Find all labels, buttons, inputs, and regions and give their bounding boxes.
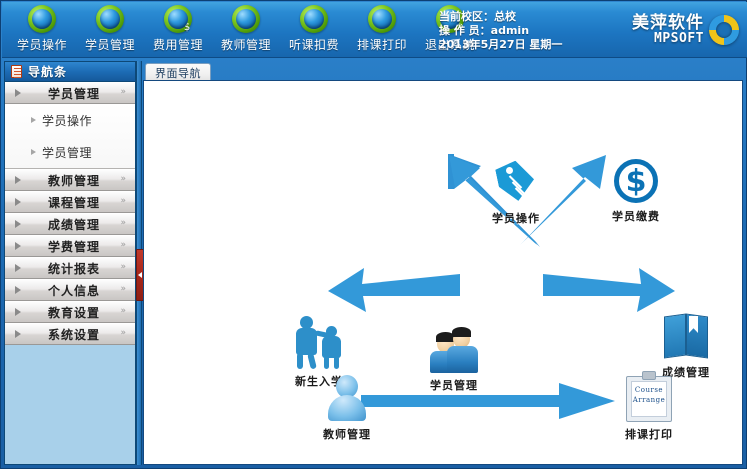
- diagram-node-course-print[interactable]: Course Arrange 排课打印: [599, 371, 699, 442]
- sidebar-subitem-label: 学员操作: [42, 112, 92, 129]
- toolbar-button-1[interactable]: 学员操作: [8, 2, 76, 56]
- toolbar-button-label: 学员管理: [85, 36, 135, 53]
- sidebar-group-5[interactable]: 学费管理»: [5, 235, 135, 257]
- chevron-down-icon[interactable]: »: [120, 175, 126, 184]
- toolbar-button-label: 教师管理: [221, 36, 271, 53]
- magnifier-icon: [28, 5, 56, 33]
- sidebar-group-1[interactable]: 学员管理»: [5, 82, 135, 104]
- tab-strip: 界面导航: [143, 61, 743, 81]
- sidebar-group-label: 课程管理: [21, 194, 135, 211]
- toolbar-button-4[interactable]: 教师管理: [212, 2, 280, 56]
- tab-label: 界面导航: [155, 65, 201, 81]
- chevron-down-icon[interactable]: »: [120, 219, 126, 228]
- dollar-circle-icon: $: [613, 159, 659, 205]
- navigation-sidebar: 导航条 学员管理»学员操作学员管理教师管理»课程管理»成绩管理»学费管理»统计报…: [4, 61, 136, 465]
- dollar-icon-glyph: $: [180, 21, 194, 35]
- chevron-down-icon[interactable]: »: [120, 197, 126, 206]
- diagram-label-teacher-mgmt: 教师管理: [292, 426, 402, 442]
- printer-icon: [368, 5, 396, 33]
- operator-text: 操 作 员：admin: [439, 24, 562, 38]
- teacher-icon: [232, 5, 260, 33]
- toolbar-button-label: 听课扣费: [289, 36, 339, 53]
- sidebar-group-8[interactable]: 教育设置»: [5, 301, 135, 323]
- sidebar-group-label: 统计报表: [21, 260, 135, 277]
- chevron-down-icon[interactable]: »: [120, 329, 126, 338]
- diagram-node-student-pay[interactable]: $ 学员缴费: [586, 159, 686, 224]
- brand-name-en: MPSOFT: [632, 32, 704, 46]
- diagram-label-course-print: 排课打印: [599, 426, 699, 442]
- chevron-down-icon[interactable]: »: [120, 263, 126, 272]
- sidebar-subitems-panel: 学员操作学员管理: [5, 104, 135, 169]
- sidebar-group-label: 系统设置: [21, 326, 135, 343]
- sidebar-subitem-label: 学员管理: [42, 144, 92, 161]
- toolbar-button-2[interactable]: 学员管理: [76, 2, 144, 56]
- refresh-arrow-icon: [300, 5, 328, 33]
- diagram-label-student-pay: 学员缴费: [586, 208, 686, 224]
- brand-name-cn: 美萍软件: [632, 14, 704, 32]
- toolbar-button-label: 学员操作: [17, 36, 67, 53]
- people-icon: [288, 316, 350, 370]
- students-icon: [426, 326, 482, 374]
- application-window: 学员操作学员管理$费用管理教师管理听课扣费排课打印⏻退出系统 当前校区：总校 操…: [0, 0, 747, 469]
- diagram-node-teacher-mgmt[interactable]: 教师管理: [292, 373, 402, 442]
- clipboard-line-1: Course: [631, 385, 667, 395]
- book-icon: [662, 311, 710, 361]
- diagram-label-student-ops: 学员操作: [466, 210, 566, 226]
- toolbar-button-5[interactable]: 听课扣费: [280, 2, 348, 56]
- sidebar-group-9[interactable]: 系统设置»: [5, 323, 135, 345]
- sidebar-group-label: 教师管理: [21, 172, 135, 189]
- sidebar-group-label: 个人信息: [21, 282, 135, 299]
- sidebar-group-3[interactable]: 课程管理»: [5, 191, 135, 213]
- person-icon: [325, 373, 369, 423]
- header-info: 当前校区：总校 操 作 员：admin 2013年5月27日 星期一: [439, 10, 562, 52]
- content-area: 界面导航: [143, 61, 743, 465]
- collapse-left-arrow-icon: [138, 272, 142, 278]
- tab-interface-navigation[interactable]: 界面导航: [145, 63, 211, 81]
- sidebar-group-4[interactable]: 成绩管理»: [5, 213, 135, 235]
- tag-icon: [494, 159, 538, 207]
- brand-text: 美萍软件 MPSOFT: [632, 14, 704, 46]
- navigation-diagram-canvas: 学员操作 $ 学员缴费: [143, 80, 743, 465]
- toolbar-button-label: 费用管理: [153, 36, 203, 53]
- navigation-document-icon: [11, 65, 22, 78]
- sidebar-group-label: 学费管理: [21, 238, 135, 255]
- sidebar-group-label: 教育设置: [21, 304, 135, 321]
- clipboard-line-2: Arrange: [631, 395, 667, 405]
- sidebar-title: 导航条: [28, 63, 67, 80]
- toolbar-items: 学员操作学员管理$费用管理教师管理听课扣费排课打印⏻退出系统: [2, 2, 484, 56]
- sidebar-group-7[interactable]: 个人信息»: [5, 279, 135, 301]
- clipboard-icon: Course Arrange: [626, 371, 672, 423]
- chevron-down-icon[interactable]: »: [120, 241, 126, 250]
- sidebar-group-6[interactable]: 统计报表»: [5, 257, 135, 279]
- arrow-student-mgmt-to-new-enrollment: [324, 266, 464, 316]
- chevron-right-small-icon: [31, 117, 36, 123]
- sidebar-group-label: 学员管理: [21, 85, 135, 102]
- sidebar-header: 导航条: [5, 62, 135, 82]
- brand-logo-area: 美萍软件 MPSOFT: [632, 10, 739, 50]
- toolbar-button-6[interactable]: 排课打印: [348, 2, 416, 56]
- sidebar-subitem-2[interactable]: 学员管理: [5, 136, 135, 168]
- sidebar-subitem-1[interactable]: 学员操作: [5, 104, 135, 136]
- dollar-icon: $: [164, 5, 192, 33]
- toolbar-button-3[interactable]: $费用管理: [144, 2, 212, 56]
- diagram-node-score-mgmt[interactable]: 成绩管理: [636, 311, 736, 380]
- company-logo-icon: [709, 15, 739, 45]
- current-campus-text: 当前校区：总校: [439, 10, 562, 24]
- chevron-right-small-icon: [31, 149, 36, 155]
- window-card-icon: [96, 5, 124, 33]
- chevron-down-icon[interactable]: »: [120, 88, 126, 97]
- chevron-down-icon[interactable]: »: [120, 285, 126, 294]
- chevron-down-icon[interactable]: »: [120, 307, 126, 316]
- diagram-node-student-mgmt[interactable]: 学员管理: [404, 326, 504, 393]
- main-toolbar: 学员操作学员管理$费用管理教师管理听课扣费排课打印⏻退出系统 当前校区：总校 操…: [2, 2, 747, 58]
- sidebar-groups: 学员管理»学员操作学员管理教师管理»课程管理»成绩管理»学费管理»统计报表»个人…: [5, 82, 135, 464]
- diagram-label-student-mgmt: 学员管理: [404, 377, 504, 393]
- sidebar-group-label: 成绩管理: [21, 216, 135, 233]
- diagram-node-student-ops[interactable]: 学员操作: [466, 159, 566, 226]
- toolbar-button-label: 排课打印: [357, 36, 407, 53]
- date-text: 2013年5月27日 星期一: [439, 38, 562, 52]
- arrow-student-mgmt-to-score-mgmt: [539, 266, 679, 316]
- sidebar-group-2[interactable]: 教师管理»: [5, 169, 135, 191]
